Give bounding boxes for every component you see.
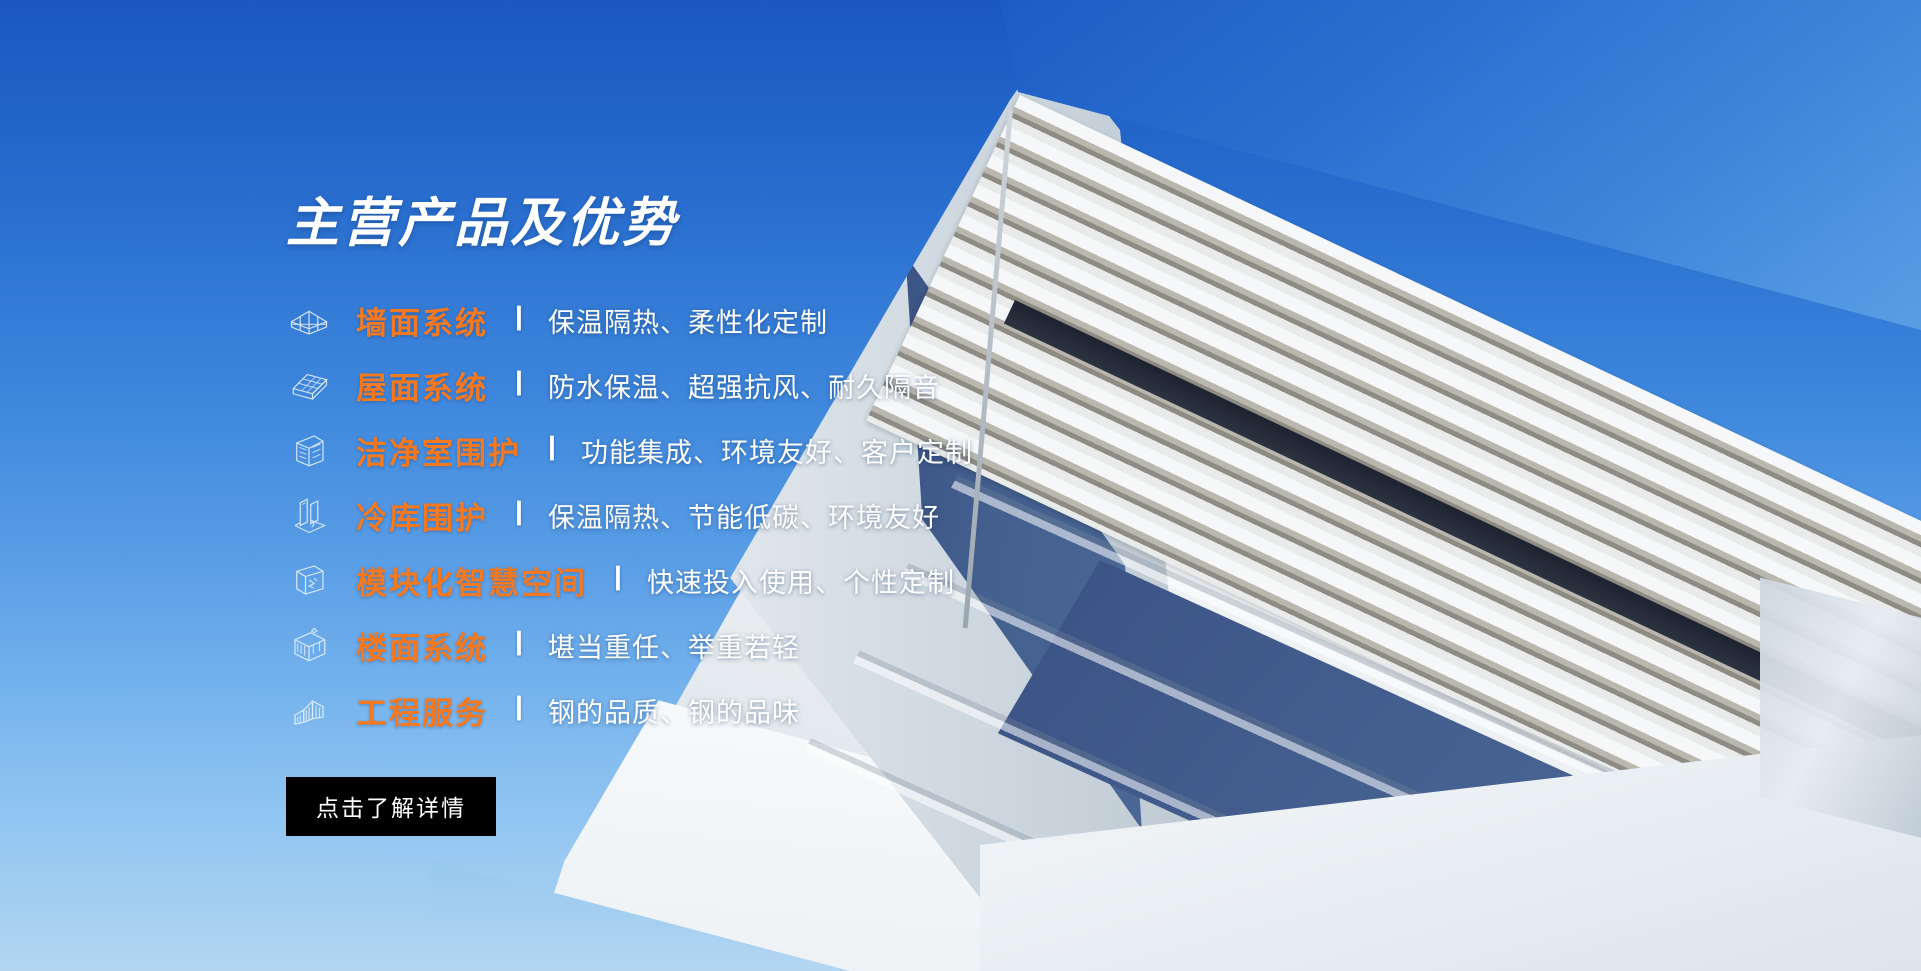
feature-row[interactable]: 洁净室围护 丨 功能集成、环境友好、客户定制 — [286, 424, 1186, 477]
coldstorage-enclosure-icon — [286, 492, 332, 538]
hero-content: 主营产品及优势 墙面系统 丨 保温隔热、柔性化定制 — [286, 196, 1186, 836]
sky-sliver-base — [430, 860, 1050, 971]
feature-separator: 丨 — [503, 632, 536, 658]
feature-title: 模块化智慧空间 — [356, 558, 587, 603]
feature-description: 防水保温、超强抗风、耐久隔音 — [548, 366, 940, 405]
learn-more-button[interactable]: 点击了解详情 — [286, 777, 496, 836]
feature-title: 洁净室围护 — [356, 428, 521, 473]
roof-system-icon — [286, 362, 332, 408]
feature-title: 墙面系统 — [356, 298, 488, 343]
feature-separator: 丨 — [602, 567, 635, 593]
feature-title: 冷库围护 — [356, 493, 488, 538]
page-title: 主营产品及优势 — [286, 196, 1186, 252]
feature-title: 工程服务 — [356, 688, 488, 733]
feature-title: 屋面系统 — [356, 363, 488, 408]
feature-description: 钢的品质、钢的品味 — [548, 691, 800, 730]
feature-description: 快速投入使用、个性定制 — [647, 561, 955, 600]
feature-row[interactable]: 模块化智慧空间 丨 快速投入使用、个性定制 — [286, 554, 1186, 607]
feature-row[interactable]: 工程服务 丨 钢的品质、钢的品味 — [286, 684, 1186, 737]
wall-system-icon — [286, 297, 332, 343]
floor-system-icon — [286, 622, 332, 668]
feature-row[interactable]: 楼面系统 丨 堪当重任、举重若轻 — [286, 619, 1186, 672]
modular-smart-space-icon — [286, 557, 332, 603]
feature-row[interactable]: 冷库围护 丨 保温隔热、节能低碳、环境友好 — [286, 489, 1186, 542]
hero-banner: 主营产品及优势 墙面系统 丨 保温隔热、柔性化定制 — [0, 0, 1921, 971]
feature-separator: 丨 — [536, 437, 569, 463]
feature-row[interactable]: 墙面系统 丨 保温隔热、柔性化定制 — [286, 294, 1186, 347]
feature-separator: 丨 — [503, 307, 536, 333]
feature-separator: 丨 — [503, 502, 536, 528]
building-far-right-fold — [1760, 578, 1921, 843]
feature-description: 保温隔热、节能低碳、环境友好 — [548, 496, 940, 535]
feature-description: 功能集成、环境友好、客户定制 — [581, 431, 973, 470]
feature-description: 堪当重任、举重若轻 — [548, 626, 800, 665]
cleanroom-enclosure-icon — [286, 427, 332, 473]
feature-title: 楼面系统 — [356, 623, 488, 668]
feature-row[interactable]: 屋面系统 丨 防水保温、超强抗风、耐久隔音 — [286, 359, 1186, 412]
feature-separator: 丨 — [503, 372, 536, 398]
engineering-service-icon — [286, 687, 332, 733]
feature-list: 墙面系统 丨 保温隔热、柔性化定制 屋面系统 — [286, 294, 1186, 737]
feature-description: 保温隔热、柔性化定制 — [548, 301, 828, 340]
feature-separator: 丨 — [503, 697, 536, 723]
